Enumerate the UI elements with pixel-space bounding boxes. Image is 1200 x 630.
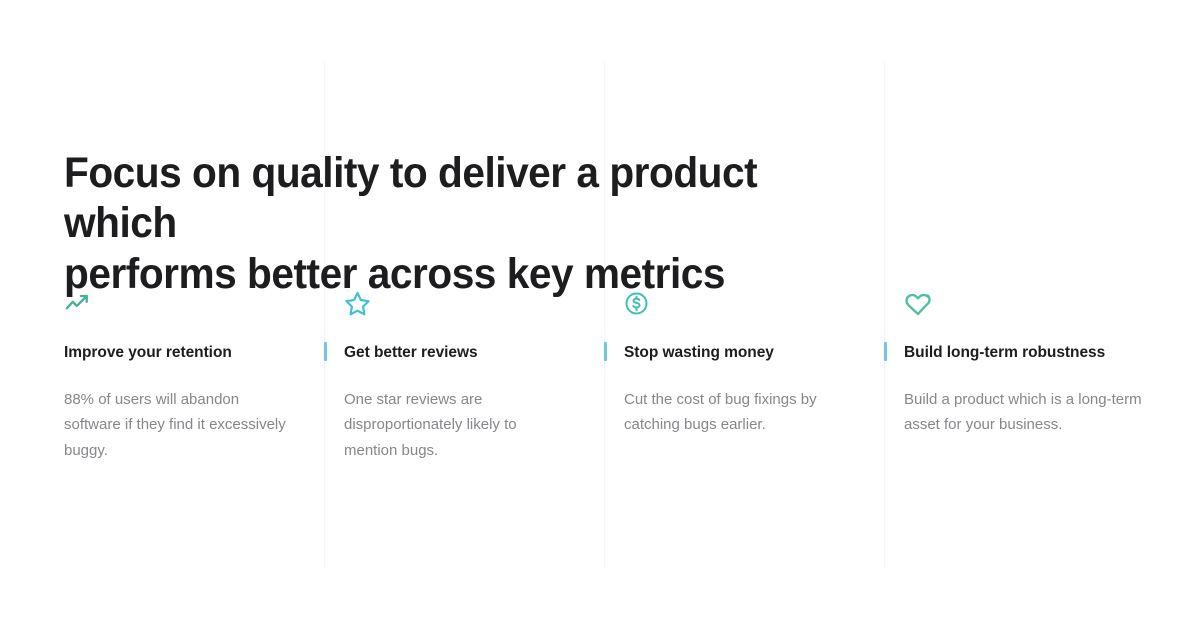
feature-title: Improve your retention: [64, 344, 294, 363]
feature-title: Stop wasting money: [624, 344, 856, 363]
page-title: Focus on quality to deliver a product wh…: [64, 148, 839, 299]
title-accent-bar: [884, 342, 887, 361]
feature-column-robustness: Build long-term robustness Build a produ…: [904, 288, 1142, 438]
divider-line-1: [324, 63, 326, 568]
divider-line-2: [604, 63, 606, 568]
feature-body: Build a product which is a long-term ass…: [904, 387, 1142, 439]
feature-title: Build long-term robustness: [904, 344, 1142, 363]
trending-up-icon: [64, 288, 294, 318]
divider-line-3: [884, 63, 886, 568]
title-accent-bar: [604, 342, 607, 361]
feature-column-retention: Improve your retention 88% of users will…: [64, 288, 294, 464]
star-icon: [344, 288, 574, 318]
title-accent-bar: [324, 342, 327, 361]
feature-column-money: Stop wasting money Cut the cost of bug f…: [624, 288, 856, 438]
heart-icon: [904, 288, 1142, 318]
feature-body: 88% of users will abandon software if th…: [64, 387, 294, 464]
feature-body: Cut the cost of bug fixings by catching …: [624, 387, 856, 439]
feature-title: Get better reviews: [344, 344, 574, 363]
feature-body: One star reviews are disproportionately …: [344, 387, 574, 464]
dollar-circle-icon: [624, 288, 856, 318]
feature-column-reviews: Get better reviews One star reviews are …: [344, 288, 574, 464]
slide-canvas: Focus on quality to deliver a product wh…: [0, 0, 1200, 630]
